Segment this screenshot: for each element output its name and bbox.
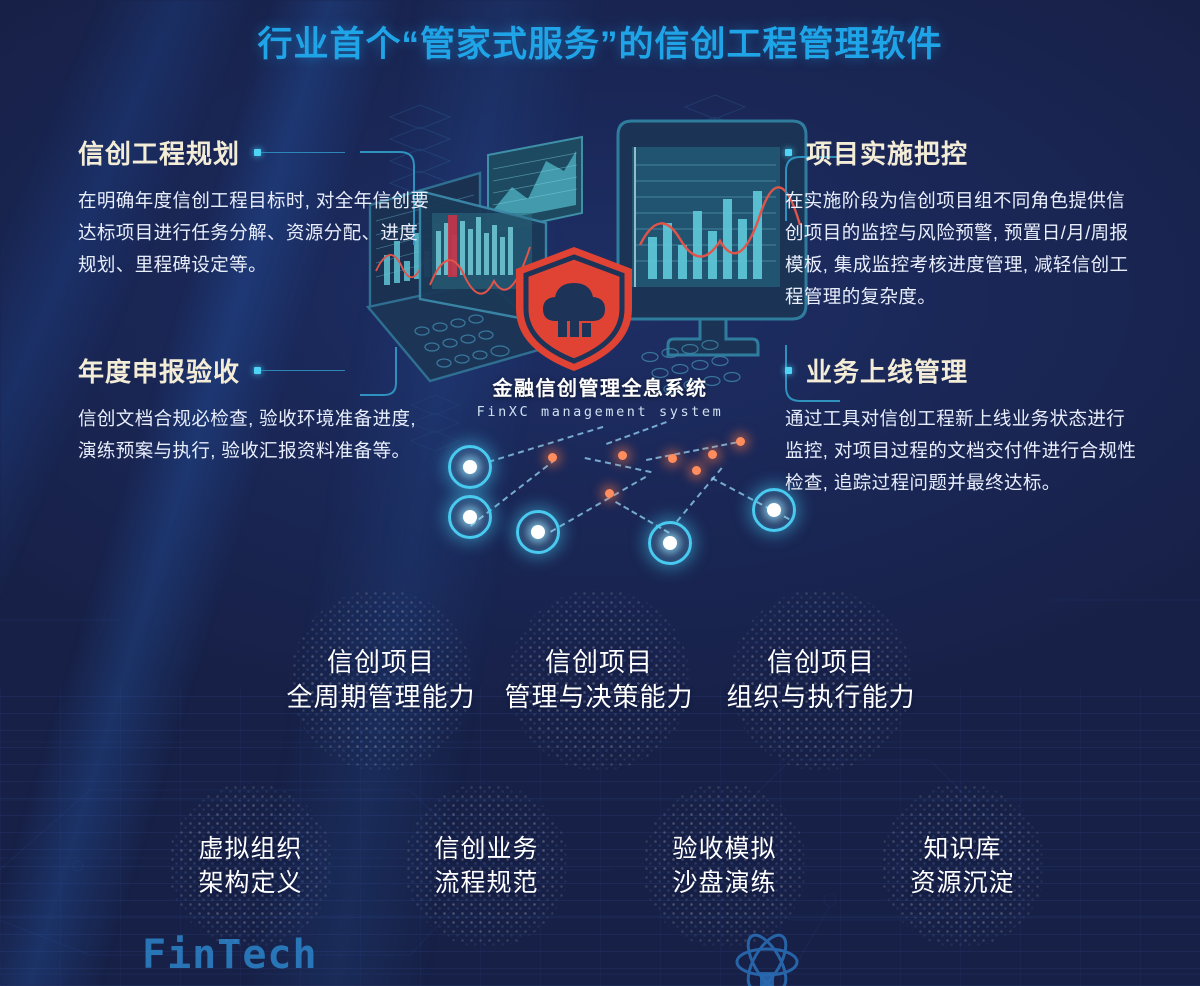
atom-orbit-icon [728, 928, 806, 986]
sphere-label-line1: 信创项目 [505, 645, 694, 680]
capability-sphere: 信创项目 全周期管理能力 [290, 589, 472, 771]
fintech-watermark: FinTech [142, 932, 342, 983]
feature-business-launch: 业务上线管理 通过工具对信创工程新上线业务状态进行监控, 对项目过程的文档交付件… [785, 352, 1140, 499]
sphere-label-line2: 沙盘演练 [672, 866, 776, 900]
node-link [676, 467, 723, 522]
sphere-label-line2: 全周期管理能力 [287, 680, 476, 715]
feature-heading: 信创工程规划 [78, 134, 240, 171]
network-node-dot [708, 450, 717, 459]
sphere-label-line2: 资源沉淀 [910, 866, 1014, 900]
connector-dot-icon [785, 149, 792, 156]
node-network [430, 425, 830, 560]
node-link [606, 421, 667, 445]
feature-heading-row: 业务上线管理 [785, 352, 1140, 389]
connector-line [261, 152, 345, 153]
feature-heading-row: 信创工程规划 [78, 134, 433, 171]
capability-sphere: 信创项目 组织与执行能力 [730, 589, 912, 771]
module-sphere: 信创业务 流程规范 [404, 783, 569, 948]
sphere-label-line1: 信创业务 [434, 832, 538, 866]
network-node-ring [648, 521, 692, 565]
connector-lead [785, 361, 792, 381]
page-title: 行业首个“管家式服务”的信创工程管理软件 [0, 16, 1200, 67]
module-sphere: 虚拟组织 架构定义 [168, 783, 333, 948]
feature-heading: 项目实施把控 [806, 134, 968, 171]
module-sphere: 知识库 资源沉淀 [880, 783, 1045, 948]
sphere-label-line2: 架构定义 [198, 866, 302, 900]
network-node-ring [516, 510, 560, 554]
fintech-watermark-text: FinTech [142, 932, 318, 978]
feature-planning: 信创工程规划 在明确年度信创工程目标时, 对全年信创要达标项目进行任务分解、资源… [78, 134, 433, 281]
sphere-label-line2: 管理与决策能力 [505, 680, 694, 715]
feature-annual-acceptance: 年度申报验收 信创文档合规必检查, 验收环境准备进度, 演练预案与执行, 验收汇… [78, 352, 433, 467]
feature-body: 通过工具对信创工程新上线业务状态进行监控, 对项目过程的文档交付件进行合规性检查… [785, 403, 1140, 499]
sphere-label: 信创项目 管理与决策能力 [505, 645, 694, 716]
network-node-dot [618, 451, 627, 460]
network-node-dot [605, 489, 614, 498]
feature-implementation: 项目实施把控 在实施阶段为信创项目组不同角色提供信创项目的监控与风险预警, 预置… [785, 134, 1140, 313]
node-link [646, 441, 737, 461]
connector-line [261, 370, 345, 371]
network-node-ring [448, 445, 492, 489]
network-node-dot [548, 453, 557, 462]
sphere-label-line2: 组织与执行能力 [727, 680, 916, 715]
sphere-label: 虚拟组织 架构定义 [198, 832, 302, 900]
module-sphere: 验收模拟 沙盘演练 [642, 783, 807, 948]
sphere-label-line1: 虚拟组织 [198, 832, 302, 866]
sphere-label: 知识库 资源沉淀 [910, 832, 1014, 900]
shield-cloud-chart-icon [508, 243, 640, 375]
sphere-label: 验收模拟 沙盘演练 [672, 832, 776, 900]
sphere-label: 信创业务 流程规范 [434, 832, 538, 900]
sphere-label-line1: 信创项目 [287, 645, 476, 680]
connector-lead [254, 361, 345, 381]
network-node-ring [448, 495, 492, 539]
network-node-dot [692, 466, 701, 475]
feature-heading-row: 项目实施把控 [785, 134, 1140, 171]
connector-lead [254, 143, 345, 163]
sphere-label-line1: 验收模拟 [672, 832, 776, 866]
feature-body: 在明确年度信创工程目标时, 对全年信创要达标项目进行任务分解、资源分配、进度规划… [78, 185, 433, 281]
network-node-dot [736, 437, 745, 446]
node-link [585, 457, 652, 473]
sphere-label: 信创项目 全周期管理能力 [287, 645, 476, 716]
sphere-label-line2: 流程规范 [434, 866, 538, 900]
feature-heading-row: 年度申报验收 [78, 352, 433, 389]
node-link [550, 476, 646, 533]
feature-body: 在实施阶段为信创项目组不同角色提供信创项目的监控与风险预警, 预置日/月/周报模… [785, 185, 1140, 313]
sphere-label: 信创项目 组织与执行能力 [727, 645, 916, 716]
connector-dot-icon [785, 367, 792, 374]
connector-dot-icon [254, 149, 261, 156]
capability-sphere: 信创项目 管理与决策能力 [508, 589, 690, 771]
connector-dot-icon [254, 367, 261, 374]
feature-heading: 业务上线管理 [806, 352, 968, 389]
infographic-canvas: 行业首个“管家式服务”的信创工程管理软件 [0, 0, 1200, 986]
connector-lead [785, 143, 792, 163]
sphere-label-line1: 信创项目 [727, 645, 916, 680]
feature-heading: 年度申报验收 [78, 352, 240, 389]
sphere-label-line1: 知识库 [910, 832, 1014, 866]
network-node-dot [668, 454, 677, 463]
feature-body: 信创文档合规必检查, 验收环境准备进度, 演练预案与执行, 验收汇报资料准备等。 [78, 403, 433, 467]
